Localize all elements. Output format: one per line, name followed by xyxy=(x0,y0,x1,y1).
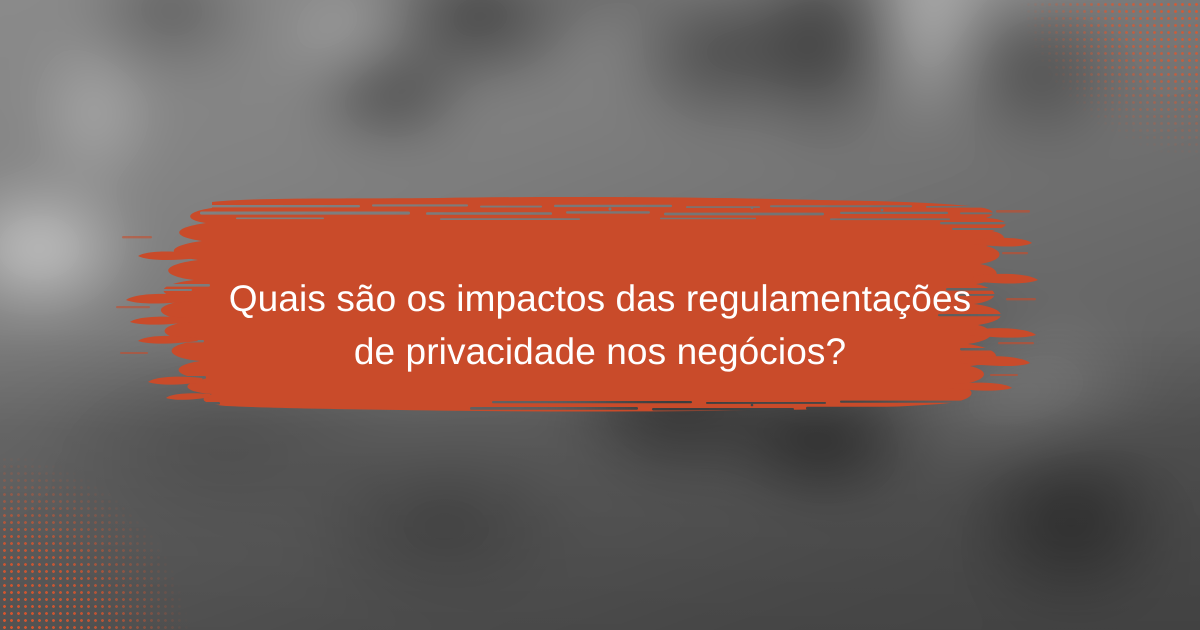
quote-card: Quais são os impactos das regulamentaçõe… xyxy=(0,0,1200,630)
headline-line-2: de privacidade nos negócios? xyxy=(0,325,1200,378)
headline-line-1: Quais são os impactos das regulamentaçõe… xyxy=(0,272,1200,325)
headline: Quais são os impactos das regulamentaçõe… xyxy=(0,272,1200,378)
